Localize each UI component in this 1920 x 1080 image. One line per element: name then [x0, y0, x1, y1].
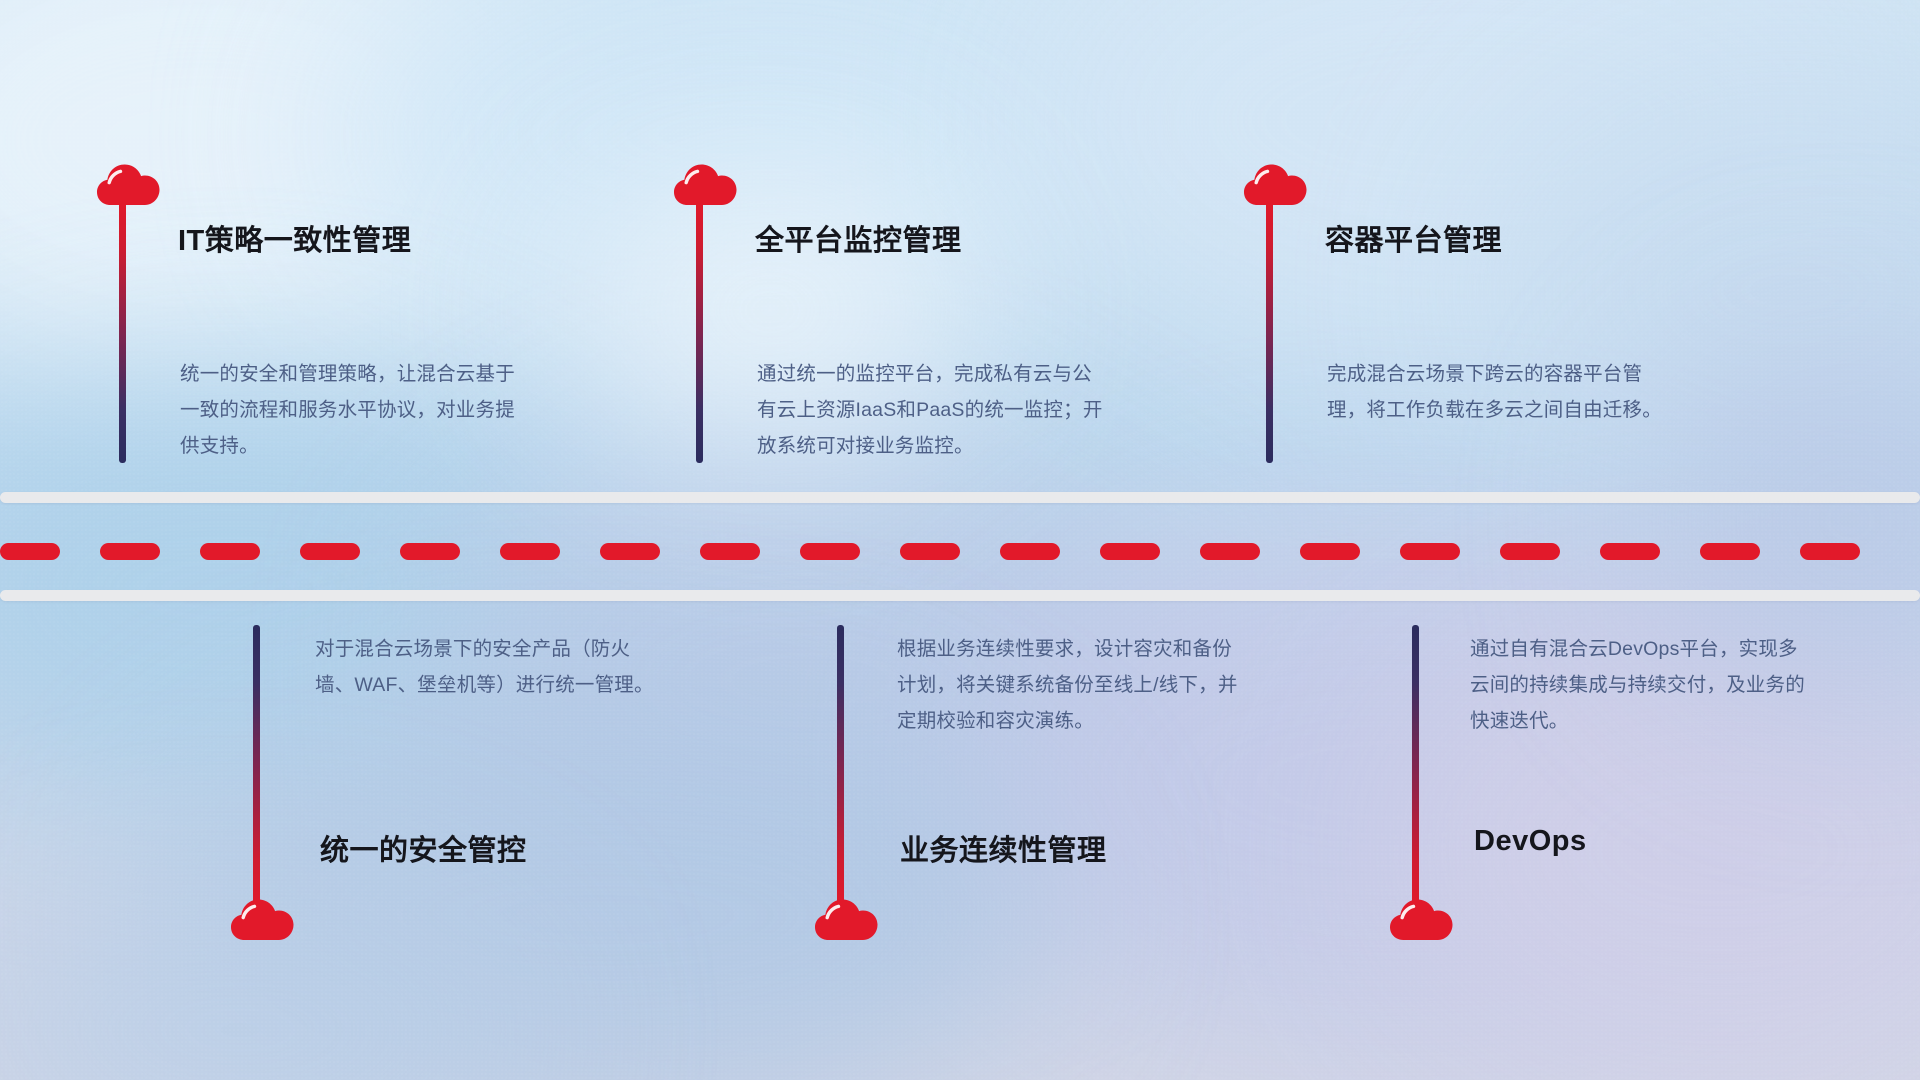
road-dash-segment	[1200, 543, 1260, 560]
connector-stem	[696, 200, 703, 463]
capability-title: 业务连续性管理	[900, 827, 1107, 869]
capability-description: 通过自有混合云DevOps平台，实现多云间的持续集成与持续交付，及业务的快速迭代…	[1470, 631, 1815, 739]
cloud-pin-icon	[1389, 895, 1457, 943]
capability-title: 统一的安全管控	[320, 827, 527, 869]
road-dash-segment	[600, 543, 660, 560]
capability-description: 根据业务连续性要求，设计容灾和备份计划，将关键系统备份至线上/线下，并定期校验和…	[897, 631, 1242, 739]
road-dash-segment	[500, 543, 560, 560]
connector-stem	[837, 625, 844, 910]
road-edge-line-top	[0, 492, 1920, 503]
road-dash-segment	[1000, 543, 1060, 560]
road-dash-segment	[400, 543, 460, 560]
capability-description: 完成混合云场景下跨云的容器平台管理，将工作负载在多云之间自由迁移。	[1327, 356, 1672, 428]
capability-title: 全平台监控管理	[755, 217, 962, 259]
connector-stem	[1412, 625, 1419, 910]
road-dash-segment	[700, 543, 760, 560]
capability-title: IT策略一致性管理	[178, 217, 411, 259]
road-dash-segment	[300, 543, 360, 560]
cloud-pin-icon	[814, 895, 882, 943]
road-dash-segment	[900, 543, 960, 560]
capability-description: 通过统一的监控平台，完成私有云与公有云上资源IaaS和PaaS的统一监控；开放系…	[757, 356, 1109, 464]
road-dash-segment	[1500, 543, 1560, 560]
cloud-pin-icon	[1243, 160, 1311, 208]
capability-title: DevOps	[1474, 825, 1587, 858]
connector-stem	[119, 200, 126, 463]
connector-stem	[1266, 200, 1273, 463]
road-dash-segment	[1800, 543, 1860, 560]
road-dash-segment	[800, 543, 860, 560]
cloud-pin-icon	[230, 895, 298, 943]
capability-title: 容器平台管理	[1325, 217, 1502, 259]
cloud-pin-icon	[96, 160, 164, 208]
road-dash-segment	[0, 543, 60, 560]
road-dash-segment	[1300, 543, 1360, 560]
connector-stem	[253, 625, 260, 910]
road-dash-segment	[1700, 543, 1760, 560]
road-dash-segment	[100, 543, 160, 560]
capability-description: 对于混合云场景下的安全产品（防火墙、WAF、堡垒机等）进行统一管理。	[315, 631, 660, 703]
road-dash-segment	[200, 543, 260, 560]
infographic-canvas: IT策略一致性管理 统一的安全和管理策略，让混合云基于一致的流程和服务水平协议，…	[0, 0, 1920, 1080]
road-dash-segment	[1100, 543, 1160, 560]
road-edge-line-bottom	[0, 590, 1920, 601]
road-dash-segment	[1400, 543, 1460, 560]
cloud-pin-icon	[673, 160, 741, 208]
capability-description: 统一的安全和管理策略，让混合云基于一致的流程和服务水平协议，对业务提供支持。	[180, 356, 525, 464]
road-dash-segment	[1600, 543, 1660, 560]
road-dashed-centerline	[0, 543, 1920, 560]
